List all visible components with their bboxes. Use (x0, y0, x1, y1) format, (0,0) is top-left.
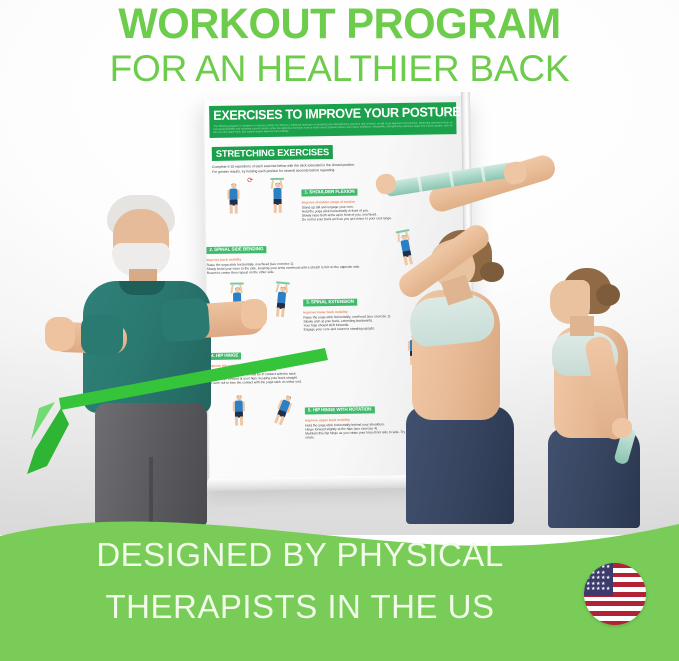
exercise-3-title: 3. SPINAL EXTENSION (303, 298, 357, 306)
man-collar (119, 281, 165, 295)
man-left-sleeve (81, 315, 123, 355)
poster-header-band: EXERCISES TO IMPROVE YOUR POSTURE The fo… (209, 102, 456, 138)
exercise-1-title: 1. SHOULDER FLEXION (301, 188, 357, 196)
bottom-green-banner: DESIGNED BY PHYSICAL THERAPISTS IN THE U… (0, 498, 679, 661)
poster-section-intro: Complete 5-10 repetitions of each exerci… (212, 161, 455, 174)
motion-arrow-icon: ⟳ (247, 178, 253, 185)
womanB-neck (570, 316, 594, 336)
figure-shoulder-flexion-end (267, 183, 288, 215)
poster-intro-paragraph: The following program is designed to imp… (213, 121, 452, 134)
woman-overhead-stretch (392, 178, 572, 523)
womanB-hand (612, 418, 632, 438)
exercise-5-title: 5. HIP HINGE WITH ROTATION (305, 406, 375, 415)
banner-line-1: DESIGNED BY PHYSICAL (0, 535, 600, 575)
poster-body: STRETCHING EXERCISES Complete 5-10 repet… (205, 134, 463, 174)
man-right-fist (241, 299, 267, 329)
womanB-hair-bun (596, 284, 620, 306)
flag-canton: ★★★★★★★★★★★★★★★★★★★★★★★ (584, 563, 613, 596)
figure-hip-hinge-rotation-b (268, 393, 298, 430)
poster-section-title: STRETCHING EXERCISES (212, 145, 333, 161)
product-listing-image: WORKOUT PROGRAM FOR AN HEALTHIER BACK EX… (0, 0, 679, 661)
us-flag-icon: ★★★★★★★★★★★★★★★★★★★★★★★ (584, 563, 646, 625)
banner-line-2: THERAPISTS IN THE US (0, 587, 600, 627)
poster-section-intro-line-2: For greater results, try holding each po… (212, 168, 335, 174)
man-right-sleeve (160, 297, 211, 342)
man-left-fist (45, 317, 75, 351)
poster-title: EXERCISES TO IMPROVE YOUR POSTURE (213, 105, 443, 123)
senior-man-with-resistance-band (55, 195, 270, 525)
banner-text-block: DESIGNED BY PHYSICAL THERAPISTS IN THE U… (0, 535, 600, 627)
figure-spinal-extension-b (270, 286, 293, 320)
womanA-hair-bun (480, 262, 504, 282)
